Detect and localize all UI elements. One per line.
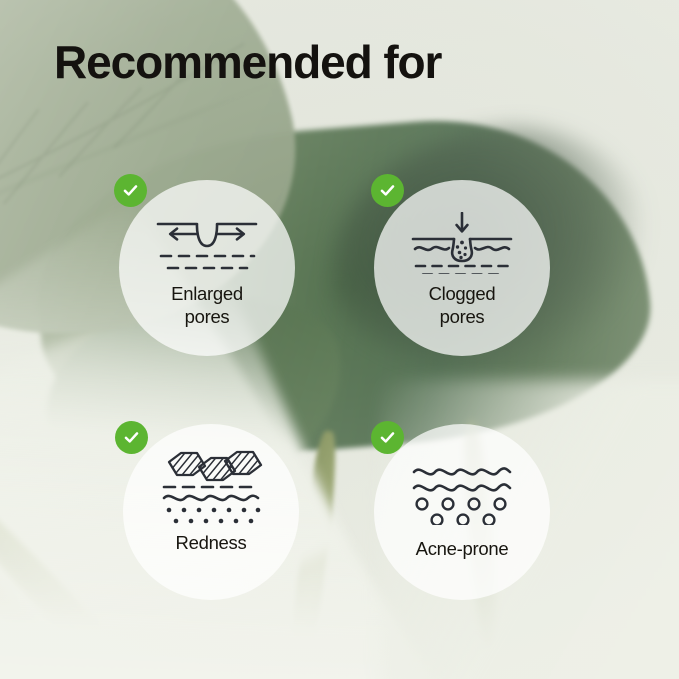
label-line-1: Redness — [176, 532, 247, 553]
redness-icon — [159, 450, 263, 526]
acne-circles — [417, 499, 506, 525]
check-icon — [122, 428, 141, 447]
feature-label-acne-prone: Acne-prone — [387, 538, 537, 561]
page-title: Recommended for — [54, 38, 441, 88]
enlarged-pores-icon — [155, 212, 259, 274]
check-badge-enlarged-pores — [114, 174, 147, 207]
feature-label-clogged-pores: Clogged pores — [387, 283, 537, 328]
feature-card-clogged-pores[interactable]: Clogged pores — [374, 180, 550, 356]
label-line-1: Enlarged — [171, 283, 243, 304]
check-badge-clogged-pores — [371, 174, 404, 207]
check-icon — [378, 181, 397, 200]
feature-card-enlarged-pores[interactable]: Enlarged pores — [119, 180, 295, 356]
sebum-dots — [456, 241, 467, 260]
recommended-for-panel: Recommended for Enlarged pores — [0, 0, 679, 679]
check-icon — [378, 428, 397, 447]
acne-prone-icon — [410, 461, 514, 525]
check-badge-redness — [115, 421, 148, 454]
label-line-1: Acne-prone — [416, 538, 509, 559]
clogged-pores-icon — [410, 212, 514, 274]
check-badge-acne-prone — [371, 421, 404, 454]
feature-label-enlarged-pores: Enlarged pores — [132, 283, 282, 328]
feature-card-redness[interactable]: Redness — [123, 424, 299, 600]
feature-label-redness: Redness — [136, 532, 286, 555]
background-photo — [0, 0, 679, 679]
label-line-2: pores — [185, 306, 230, 327]
feature-card-acne-prone[interactable]: Acne-prone — [374, 424, 550, 600]
label-line-2: pores — [440, 306, 485, 327]
label-line-1: Clogged — [429, 283, 496, 304]
background-soft-overlay — [0, 0, 679, 679]
redness-dots — [167, 508, 261, 524]
check-icon — [121, 181, 140, 200]
